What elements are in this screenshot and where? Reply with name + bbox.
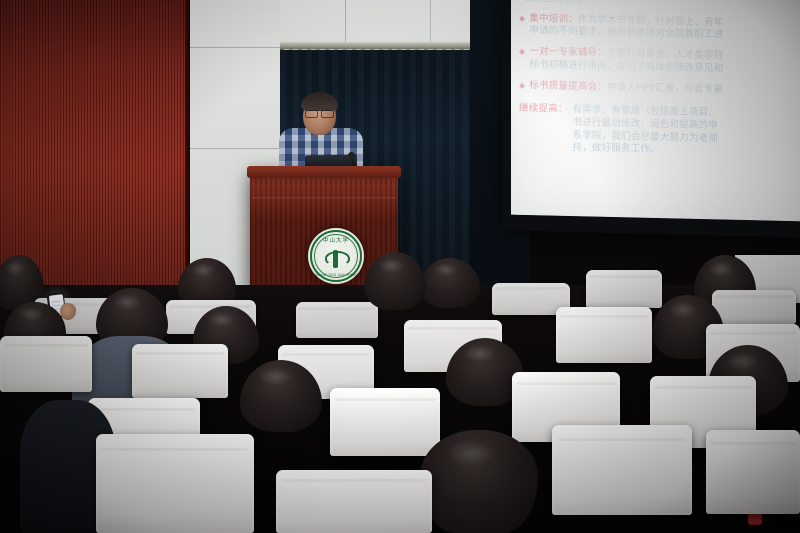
wood-panel-wall: [0, 0, 190, 300]
wall-seam: [345, 0, 346, 46]
slide-bullet: ◆ 一对一专家辅导：主要针对重点、人才类项目标书初稿进行审阅，提出了具体的修改意…: [519, 46, 800, 78]
slide-closing-line: 持，做好服务工作。: [573, 143, 660, 156]
podium-top: [247, 166, 401, 178]
slide-closing-text: 有需求、有意愿（包括面上项目、 书进行最后修改、润色和提高的申 系学院，我们会尽…: [573, 104, 800, 160]
university-emblem: 中山大学 SUN YAT-SEN UNIVERSITY: [308, 228, 364, 284]
slide-heading: 目前已经完成：: [525, 0, 800, 12]
chair-with-cover: [0, 336, 92, 392]
chair-with-cover: [712, 290, 796, 324]
chair-with-cover: [556, 307, 652, 363]
slide-bullet-line1: 申请人PPT汇报，与会专家: [607, 81, 723, 95]
slide-content: 目前已经完成： ◆ 集中培训：作为学术节专题，针对面上、青年申请的不同要求，有所…: [519, 0, 800, 161]
diamond-bullet-icon: ◆: [519, 46, 525, 72]
slide-bullet-highlight: 标书质量提高会：: [529, 80, 607, 93]
slide-bullet-text: 集中培训：作为学术节专题，针对面上、青年申请的不同要求，有所侧重地对全院教职工进: [529, 13, 800, 45]
slide-closing-line: 书进行最后修改、润色和提高的申: [573, 117, 719, 131]
slide-bullet-highlight: 集中培训：: [529, 13, 578, 25]
slide-bullet-text: 标书质量提高会：申请人PPT汇报，与会专家: [529, 80, 800, 99]
slide-bullet-highlight: 一对一专家辅导：: [529, 46, 607, 59]
slide-bullet: ◆ 标书质量提高会：申请人PPT汇报，与会专家: [519, 79, 800, 98]
slide-closing-paragraph: 继续提高： 有需求、有意愿（包括面上项目、 书进行最后修改、润色和提高的申 系学…: [519, 103, 800, 160]
chair-with-cover: [330, 388, 440, 456]
lecture-hall-photo: 目前已经完成： ◆ 集中培训：作为学术节专题，针对面上、青年申请的不同要求，有所…: [0, 0, 800, 533]
chair-with-cover: [96, 434, 254, 533]
emblem-chinese-name: 中山大学: [308, 236, 364, 244]
emblem-english-name: SUN YAT-SEN UNIVERSITY: [308, 273, 364, 277]
chair-with-cover: [296, 302, 378, 338]
emblem-tree-icon: [325, 248, 347, 270]
diamond-bullet-icon: ◆: [519, 79, 525, 92]
chair-with-cover: [706, 430, 800, 514]
projection-screen: 目前已经完成： ◆ 集中培训：作为学术节专题，针对面上、青年申请的不同要求，有所…: [511, 0, 800, 221]
diamond-bullet-icon: ◆: [519, 13, 525, 39]
glasses-icon: [305, 110, 334, 116]
slide-bullet-text: 一对一专家辅导：主要针对重点、人才类项目标书初稿进行审阅，提出了具体的修改意见和: [529, 46, 800, 78]
slide-closing-line: 有需求、有意愿（包括面上项目、: [573, 104, 719, 118]
podium-edge: [252, 197, 396, 200]
slide-bullet: ◆ 集中培训：作为学术节专题，针对面上、青年申请的不同要求，有所侧重地对全院教职…: [519, 13, 800, 45]
chair-with-cover: [276, 470, 432, 533]
chair-with-cover: [552, 425, 692, 515]
chair-with-cover: [132, 344, 228, 398]
slide-bullet-line1: 主要针对重点、人才类项目: [607, 48, 723, 62]
wall-seam: [430, 0, 431, 46]
chair-with-cover: [586, 270, 662, 308]
attendee-head: [420, 430, 538, 533]
microphone-head-icon: [348, 152, 355, 158]
slide-closing-label: 继续提高：: [519, 103, 568, 155]
slide-bullet-line2: 标书初稿进行审阅，提出了具体的修改意见和: [529, 59, 723, 74]
